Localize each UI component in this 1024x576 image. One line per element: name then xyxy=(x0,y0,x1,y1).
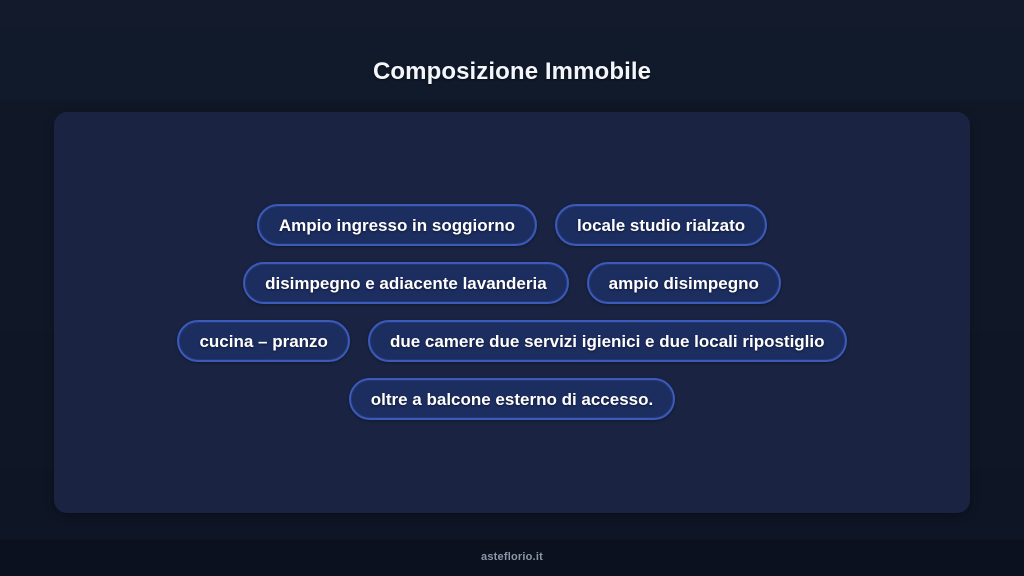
slide-root: Composizione Immobile Ampio ingresso in … xyxy=(0,0,1024,576)
pill-row-4: oltre a balcone esterno di accesso. xyxy=(54,378,970,420)
pill-item[interactable]: cucina – pranzo xyxy=(177,320,349,362)
pill-item[interactable]: disimpegno e adiacente lavanderia xyxy=(243,262,569,304)
pill-item[interactable]: ampio disimpegno xyxy=(587,262,781,304)
pill-row-1: Ampio ingresso in soggiorno locale studi… xyxy=(54,204,970,246)
footer-watermark: asteflorio.it xyxy=(0,551,1024,563)
pill-item[interactable]: locale studio rialzato xyxy=(555,204,767,246)
page-title: Composizione Immobile xyxy=(0,58,1024,86)
pill-item[interactable]: oltre a balcone esterno di accesso. xyxy=(349,378,676,420)
pill-row-3: cucina – pranzo due camere due servizi i… xyxy=(54,320,970,362)
pill-item[interactable]: Ampio ingresso in soggiorno xyxy=(257,204,537,246)
composition-card: Ampio ingresso in soggiorno locale studi… xyxy=(54,112,970,513)
pill-row-2: disimpegno e adiacente lavanderia ampio … xyxy=(54,262,970,304)
pill-item[interactable]: due camere due servizi igienici e due lo… xyxy=(368,320,847,362)
